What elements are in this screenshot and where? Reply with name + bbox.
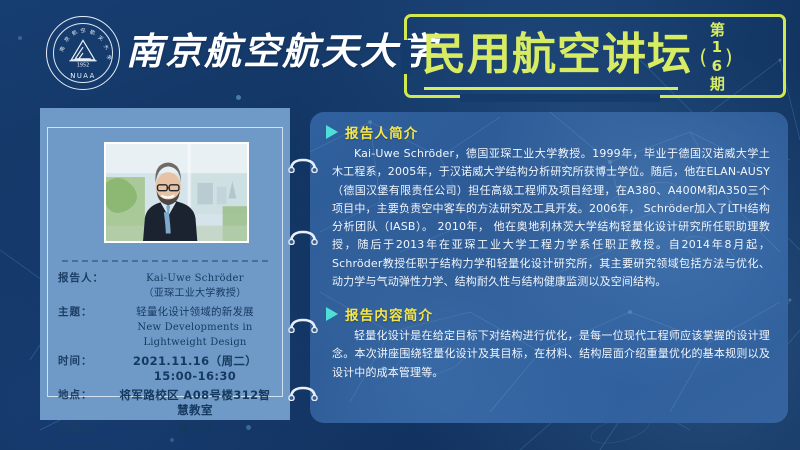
svg-text:航: 航 — [71, 29, 79, 38]
play-triangle-icon — [326, 125, 338, 139]
binding-ring-icon — [288, 318, 318, 333]
field-value: Kai-Uwe Schröder （亚琛工业大学教授） — [118, 271, 272, 301]
seal-year-text: 1952 — [77, 63, 89, 69]
speaker-portrait-image — [106, 144, 247, 242]
poster-canvas: 1952 NUAA 南 京 航 空 航 天 大 学 南京航空航天大学 民用航空讲… — [0, 0, 800, 450]
forum-title-underline — [424, 87, 678, 90]
field-label: 时间： — [58, 354, 118, 369]
speaker-photo — [104, 142, 249, 243]
section-abstract: 报告内容简介 轻量化设计是在给定目标下对结构进行优化，是每一位现代工程师应该掌握… — [310, 304, 788, 382]
nuaa-seal-logo: 1952 NUAA 南 京 航 空 航 天 大 学 — [46, 16, 120, 90]
section-header: 报告人简介 — [326, 122, 772, 142]
forum-title: 民用航空讲坛 — [422, 26, 692, 84]
field-value: 将军路校区 A08号楼312智慧教室 — [118, 388, 272, 418]
forum-title-plate: 民用航空讲坛 ( 第16期 ) — [404, 14, 786, 98]
field-value: 2021.11.16（周二）15:00-16:30 — [118, 354, 272, 384]
svg-text:京: 京 — [63, 35, 72, 43]
content-panel: 报告人简介 Kai-Uwe Schröder，德国亚琛工业大学教授。1999年，… — [310, 112, 788, 423]
plate-notch-bottom — [460, 94, 660, 102]
field-value: 轻量化设计领域的新发展 New Developments in Lightwei… — [118, 305, 272, 350]
binding-ring-icon — [288, 158, 318, 173]
binding-ring-icon — [288, 230, 318, 245]
issue-paren-open: ( — [699, 47, 707, 67]
svg-text:空: 空 — [80, 27, 86, 35]
field-value-sub: New Developments in Lightweight Design — [118, 320, 272, 350]
section-header: 报告内容简介 — [326, 304, 772, 324]
field-value: 黄天翔 — [118, 422, 272, 437]
section-body: Kai-Uwe Schröder，德国亚琛工业大学教授。1999年，毕业于德国汉… — [326, 145, 772, 291]
field-label: 地点： — [58, 388, 118, 403]
seal-emblem-icon: 1952 NUAA 南 京 航 空 航 天 大 学 — [47, 17, 119, 89]
field-row-location: 地点： 将军路校区 A08号楼312智慧教室 — [48, 388, 282, 418]
field-label: 主题： — [58, 305, 118, 320]
speaker-info-card: 报告人： Kai-Uwe Schröder （亚琛工业大学教授） 主题： 轻量化… — [40, 108, 290, 420]
field-value-sub: （亚琛工业大学教授） — [118, 286, 272, 301]
svg-text:航: 航 — [89, 29, 95, 37]
play-triangle-icon — [326, 307, 338, 321]
section-speaker-bio: 报告人简介 Kai-Uwe Schröder，德国亚琛工业大学教授。1999年，… — [310, 122, 788, 291]
issue-paren-close: ) — [725, 47, 733, 67]
poster-header: 1952 NUAA 南 京 航 空 航 天 大 学 南京航空航天大学 民用航空讲… — [0, 0, 800, 108]
field-value-text: 轻量化设计领域的新发展 — [136, 306, 254, 318]
field-row-host: 主持人： 黄天翔 — [48, 422, 282, 437]
section-title: 报告人简介 — [345, 122, 419, 142]
speaker-fields-list: 报告人： Kai-Uwe Schröder （亚琛工业大学教授） 主题： 轻量化… — [48, 271, 282, 441]
svg-text:大: 大 — [102, 43, 111, 51]
field-label: 主持人： — [58, 422, 118, 437]
plate-notch-left — [401, 40, 411, 74]
svg-text:学: 学 — [105, 54, 113, 61]
section-body: 轻量化设计是在给定目标下对结构进行优化，是每一位现代工程师应该掌握的设计理念。本… — [326, 327, 772, 382]
binding-ring-icon — [288, 386, 318, 401]
field-label: 报告人： — [58, 271, 118, 286]
section-title: 报告内容简介 — [345, 304, 433, 324]
field-row-topic: 主题： 轻量化设计领域的新发展 New Developments in Ligh… — [48, 305, 282, 350]
issue-label: 第16期 — [708, 22, 724, 92]
svg-text:南: 南 — [58, 45, 66, 53]
field-value-text: Kai-Uwe Schröder — [146, 273, 244, 284]
seal-initials-text: NUAA — [70, 72, 95, 80]
card-dashed-divider — [62, 260, 268, 262]
svg-text:天: 天 — [97, 35, 104, 43]
university-name: 南京航空航天大学 — [126, 21, 438, 75]
field-row-speaker: 报告人： Kai-Uwe Schröder （亚琛工业大学教授） — [48, 271, 282, 301]
issue-badge: ( 第16期 ) — [688, 22, 744, 92]
field-row-time: 时间： 2021.11.16（周二）15:00-16:30 — [48, 354, 282, 384]
speaker-card-inner-border: 报告人： Kai-Uwe Schröder （亚琛工业大学教授） 主题： 轻量化… — [47, 127, 283, 397]
